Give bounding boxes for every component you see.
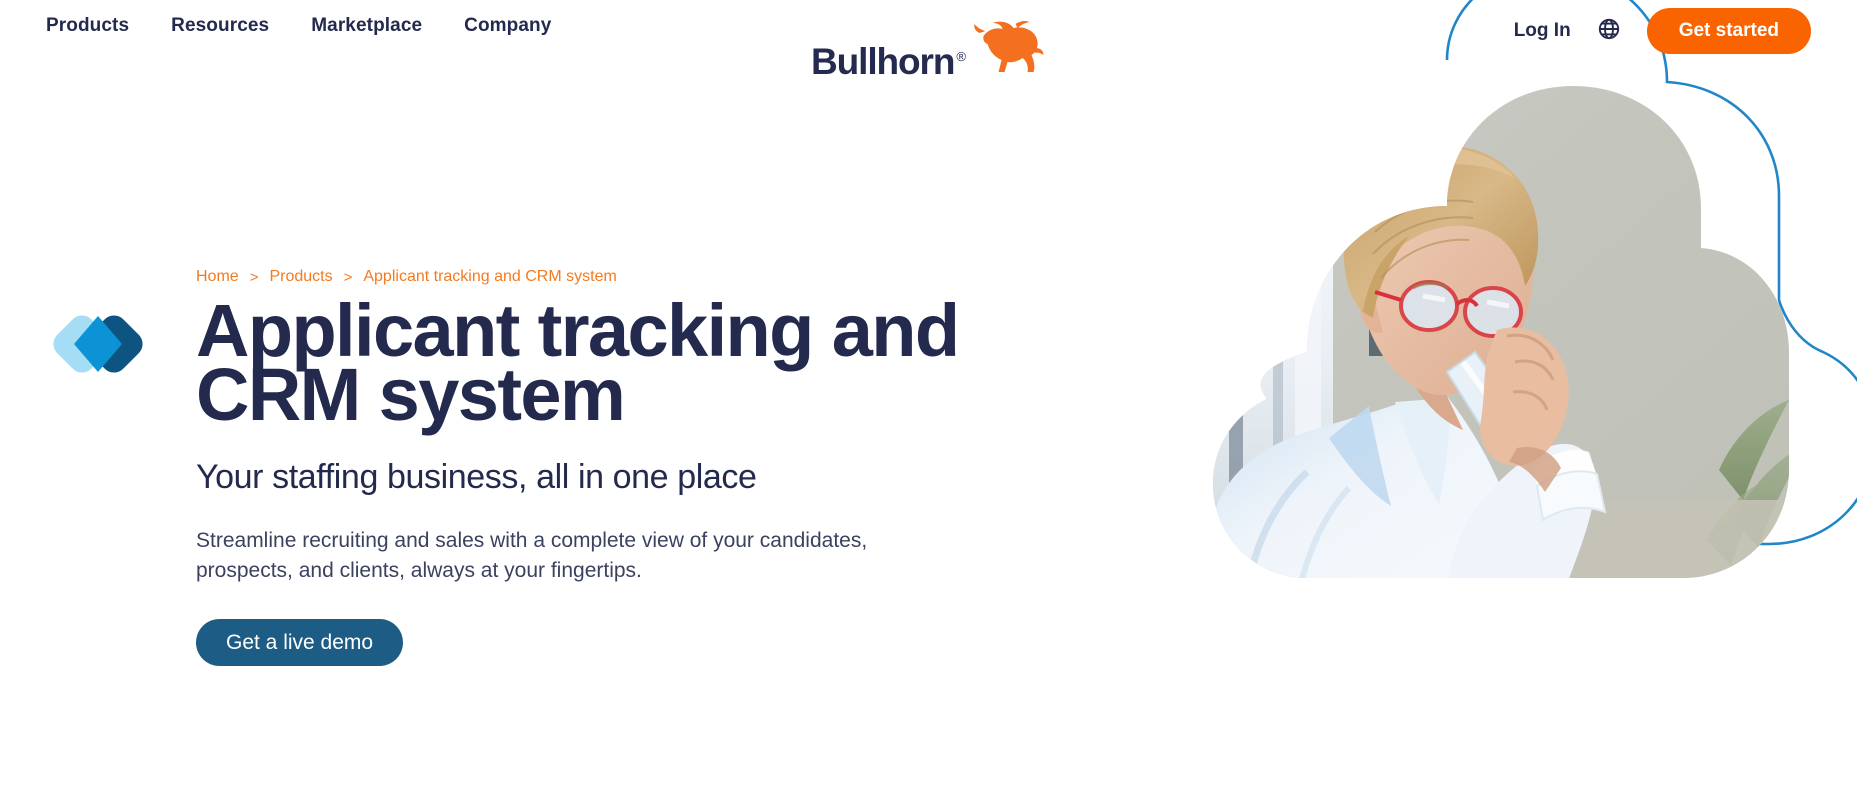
page-root: Products Resources Marketplace Company B… — [0, 0, 1857, 795]
nav-item-resources[interactable]: Resources — [171, 15, 269, 37]
primary-navigation: Products Resources Marketplace Company — [46, 15, 551, 37]
blue-outline-cloud — [1417, 0, 1857, 544]
nav-item-marketplace[interactable]: Marketplace — [311, 15, 422, 37]
globe-icon[interactable] — [1597, 17, 1621, 46]
breadcrumb-separator: > — [344, 269, 353, 286]
nav-item-products[interactable]: Products — [46, 15, 129, 37]
page-title: Applicant tracking and CRM system — [196, 299, 1116, 428]
breadcrumb-item-current: Applicant tracking and CRM system — [363, 268, 616, 286]
mobile-phone — [1447, 352, 1526, 452]
get-started-button[interactable]: Get started — [1647, 8, 1811, 54]
log-in-link[interactable]: Log In — [1514, 20, 1571, 42]
header-actions: Log In Get started — [1514, 0, 1811, 62]
hero-content: Home > Products > Applicant tracking and… — [196, 268, 1116, 666]
logo-trademark: ® — [956, 49, 966, 64]
overlapping-diamonds-icon — [52, 310, 144, 384]
breadcrumb-separator: > — [250, 269, 259, 286]
logo-wordmark: Bullhorn — [811, 43, 954, 80]
get-a-live-demo-button[interactable]: Get a live demo — [196, 619, 403, 666]
site-header: Products Resources Marketplace Company B… — [0, 0, 1857, 62]
hero-subtitle: Your staffing business, all in one place — [196, 458, 1116, 497]
breadcrumb-item-products[interactable]: Products — [269, 268, 332, 286]
breadcrumb-item-home[interactable]: Home — [196, 268, 239, 286]
plant — [1707, 400, 1805, 566]
hero-photo — [1213, 80, 1827, 610]
eyeglasses — [1375, 282, 1521, 336]
nav-item-company[interactable]: Company — [464, 15, 551, 37]
hero-description: Streamline recruiting and sales with a c… — [196, 526, 876, 586]
breadcrumb: Home > Products > Applicant tracking and… — [196, 268, 1116, 286]
bull-icon — [972, 20, 1046, 76]
bullhorn-logo[interactable]: Bullhorn ® — [811, 24, 1046, 80]
